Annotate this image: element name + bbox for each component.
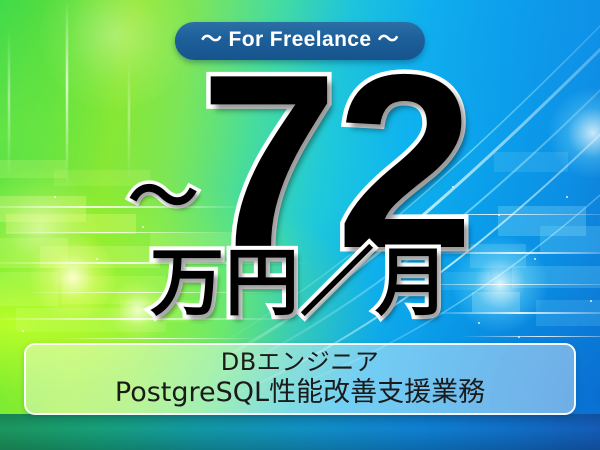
job-role-label: DBエンジニア: [221, 349, 379, 377]
job-caption-box: DBエンジニア PostgreSQL性能改善支援業務: [24, 343, 576, 415]
freelance-rate-banner: 〜 For Freelance 〜 ～ 72 万円／月 DBエンジニア Post…: [0, 0, 600, 450]
job-description-label: PostgreSQL性能改善支援業務: [115, 377, 485, 408]
price-row: ～ 72: [0, 58, 600, 263]
approximately-symbol: ～: [128, 162, 198, 232]
price-unit: 万円／月: [0, 246, 600, 320]
